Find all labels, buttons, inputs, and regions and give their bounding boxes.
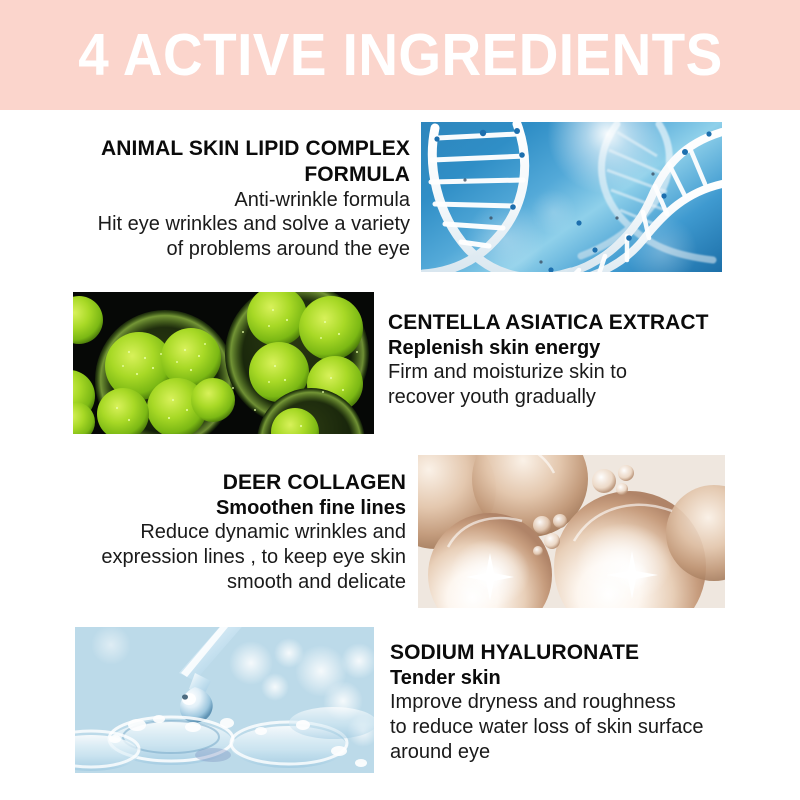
ingredient-subtitle-2: Replenish skin energy <box>388 336 768 361</box>
dna-helix-illustration <box>421 122 722 272</box>
dropper-petri-dish-photo <box>75 627 374 773</box>
header-banner: 4 ACTIVE INGREDIENTS <box>0 0 800 110</box>
dna-double-helix-photo <box>421 122 722 272</box>
ingredient-body-4-line1: Improve dryness and roughness <box>390 690 776 715</box>
ingredient-subtitle-3: Smoothen fine lines <box>24 496 406 521</box>
ingredient-text-3: DEER COLLAGEN Smoothen fine lines Reduce… <box>24 470 406 594</box>
ingredient-title-4: SODIUM HYALURONATE <box>390 640 776 666</box>
ingredient-text-2: CENTELLA ASIATICA EXTRACT Replenish skin… <box>388 310 768 410</box>
ingredient-body-4-line3: around eye <box>390 740 776 765</box>
ingredient-title-1: ANIMAL SKIN LIPID COMPLEX <box>44 136 410 162</box>
ingredient-subtitle-4: Tender skin <box>390 666 776 691</box>
ingredient-body-2-line1: Firm and moisturize skin to <box>388 360 768 385</box>
ingredient-body-1-line2: of problems around the eye <box>44 237 410 262</box>
ingredient-body-1-line1: Hit eye wrinkles and solve a variety <box>44 212 410 237</box>
ingredient-body-3-line3: smooth and delicate <box>24 570 406 595</box>
bubbles-illustration <box>418 455 725 608</box>
algae-cells-illustration <box>73 292 374 434</box>
golden-bubbles-photo <box>418 455 725 608</box>
ingredient-text-1: ANIMAL SKIN LIPID COMPLEX FORMULA Anti-w… <box>44 136 410 261</box>
ingredient-subtitle-1: Anti-wrinkle formula <box>44 188 410 213</box>
ingredient-body-3-line2: expression lines , to keep eye skin <box>24 545 406 570</box>
algae-photo-background <box>73 292 374 434</box>
ingredient-body-3-line1: Reduce dynamic wrinkles and <box>24 520 406 545</box>
dropper-illustration <box>75 627 374 773</box>
dna-photo-background <box>421 122 722 272</box>
ingredient-title-2: CENTELLA ASIATICA EXTRACT <box>388 310 768 336</box>
page-title: 4 ACTIVE INGREDIENTS <box>78 26 722 85</box>
ingredient-body-2-line2: recover youth gradually <box>388 385 768 410</box>
bubbles-photo-background <box>418 455 725 608</box>
ingredient-title-3: DEER COLLAGEN <box>24 470 406 496</box>
ingredient-title-1-line2: FORMULA <box>44 162 410 188</box>
ingredient-body-4-line2: to reduce water loss of skin surface <box>390 715 776 740</box>
dropper-photo-background <box>75 627 374 773</box>
green-algae-cells-photo <box>73 292 374 434</box>
ingredient-text-4: SODIUM HYALURONATE Tender skin Improve d… <box>390 640 776 764</box>
